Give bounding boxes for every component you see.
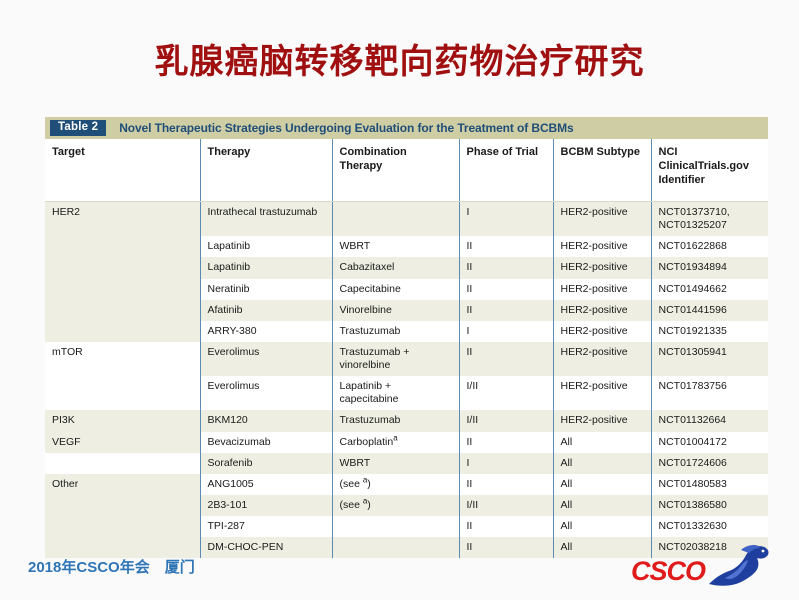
cell-target: Other <box>45 474 200 495</box>
cell-subtype: All <box>553 432 651 453</box>
table-row: TPI-287IIAllNCT01332630 <box>45 516 768 537</box>
cell-phase: II <box>459 537 553 558</box>
footnote-marker: a <box>393 433 397 442</box>
cell-phase: II <box>459 516 553 537</box>
table-figure: Table 2 Novel Therapeutic Strategies Und… <box>45 117 768 558</box>
cell-subtype: HER2-positive <box>553 202 651 237</box>
cell-target <box>45 279 200 300</box>
cell-target <box>45 236 200 257</box>
cell-nct: NCT01332630 <box>651 516 768 537</box>
cell-subtype: HER2-positive <box>553 300 651 321</box>
csco-logo-text: CSCO <box>631 556 705 587</box>
table-row: VEGFBevacizumabCarboplatinaIIAllNCT01004… <box>45 432 768 453</box>
cell-target: PI3K <box>45 410 200 431</box>
cell-therapy: Lapatinib <box>200 257 332 278</box>
cell-combination: (see a) <box>332 495 459 516</box>
column-header-therapy: Therapy <box>200 139 332 202</box>
cell-nct: NCT01386580 <box>651 495 768 516</box>
cell-nct: NCT01305941 <box>651 342 768 376</box>
cell-combination: (see a) <box>332 474 459 495</box>
cell-therapy: DM-CHOC-PEN <box>200 537 332 558</box>
cell-nct: NCT01480583 <box>651 474 768 495</box>
column-header-subtype: BCBM Subtype <box>553 139 651 202</box>
cell-therapy: BKM120 <box>200 410 332 431</box>
cell-subtype: HER2-positive <box>553 321 651 342</box>
cell-phase: II <box>459 279 553 300</box>
figure-caption: Novel Therapeutic Strategies Undergoing … <box>119 121 573 135</box>
column-header-phase: Phase of Trial <box>459 139 553 202</box>
table-row: OtherANG1005(see a)IIAllNCT01480583 <box>45 474 768 495</box>
cell-therapy: ANG1005 <box>200 474 332 495</box>
footnote-marker: a <box>363 496 367 505</box>
figure-header: Table 2 Novel Therapeutic Strategies Und… <box>45 117 768 139</box>
table-row: EverolimusLapatinib + capecitabineI/IIHE… <box>45 376 768 410</box>
cell-therapy: Neratinib <box>200 279 332 300</box>
cell-therapy: 2B3-101 <box>200 495 332 516</box>
cell-subtype: All <box>553 495 651 516</box>
cell-combination: WBRT <box>332 453 459 474</box>
cell-therapy: ARRY-380 <box>200 321 332 342</box>
cell-subtype: All <box>553 474 651 495</box>
cell-phase: II <box>459 236 553 257</box>
trials-table: Target Therapy Combination Therapy Phase… <box>45 139 768 558</box>
cell-combination <box>332 202 459 237</box>
table-row: LapatinibWBRTIIHER2-positiveNCT01622868 <box>45 236 768 257</box>
cell-phase: I/II <box>459 410 553 431</box>
footer-conference-label: 2018年CSCO年会 厦门 <box>28 556 195 577</box>
page-title: 乳腺癌脑转移靶向药物治疗研究 <box>0 44 799 81</box>
cell-phase: II <box>459 432 553 453</box>
cell-subtype: HER2-positive <box>553 342 651 376</box>
cell-nct: NCT01783756 <box>651 376 768 410</box>
cell-target <box>45 257 200 278</box>
cell-combination: Trastuzumab + vinorelbine <box>332 342 459 376</box>
cell-therapy: Bevacizumab <box>200 432 332 453</box>
cell-combination: Trastuzumab <box>332 410 459 431</box>
cell-subtype: HER2-positive <box>553 279 651 300</box>
cell-combination: Trastuzumab <box>332 321 459 342</box>
cell-phase: II <box>459 342 553 376</box>
column-header-target: Target <box>45 139 200 202</box>
cell-phase: I/II <box>459 495 553 516</box>
cell-phase: I/II <box>459 376 553 410</box>
cell-combination: Capecitabine <box>332 279 459 300</box>
cell-combination: WBRT <box>332 236 459 257</box>
cell-nct: NCT01132664 <box>651 410 768 431</box>
cell-phase: II <box>459 300 553 321</box>
cell-phase: II <box>459 257 553 278</box>
cell-subtype: All <box>553 453 651 474</box>
cell-target <box>45 321 200 342</box>
cell-nct: NCT01934894 <box>651 257 768 278</box>
cell-phase: I <box>459 321 553 342</box>
table-header-row: Target Therapy Combination Therapy Phase… <box>45 139 768 202</box>
table-row: 2B3-101(see a)I/IIAllNCT01386580 <box>45 495 768 516</box>
cell-target <box>45 495 200 516</box>
table-number-badge: Table 2 <box>50 120 106 137</box>
table-row: NeratinibCapecitabineIIHER2-positiveNCT0… <box>45 279 768 300</box>
cell-phase: II <box>459 474 553 495</box>
table-row: mTOREverolimusTrastuzumab + vinorelbineI… <box>45 342 768 376</box>
cell-target: mTOR <box>45 342 200 376</box>
cell-subtype: HER2-positive <box>553 376 651 410</box>
cell-therapy: Sorafenib <box>200 453 332 474</box>
cell-nct: NCT01921335 <box>651 321 768 342</box>
cell-nct: NCT01373710, NCT01325207 <box>651 202 768 237</box>
cell-nct: NCT01441596 <box>651 300 768 321</box>
footnote-marker: a <box>363 475 367 484</box>
cell-nct: NCT01622868 <box>651 236 768 257</box>
cell-nct: NCT01724606 <box>651 453 768 474</box>
cell-target <box>45 516 200 537</box>
cell-therapy: Intrathecal trastuzumab <box>200 202 332 237</box>
cell-phase: I <box>459 453 553 474</box>
cell-subtype: HER2-positive <box>553 410 651 431</box>
cell-nct: NCT01004172 <box>651 432 768 453</box>
cell-target: HER2 <box>45 202 200 237</box>
table-row: PI3KBKM120TrastuzumabI/IIHER2-positiveNC… <box>45 410 768 431</box>
table-row: AfatinibVinorelbineIIHER2-positiveNCT014… <box>45 300 768 321</box>
cell-combination <box>332 516 459 537</box>
cell-subtype: HER2-positive <box>553 257 651 278</box>
cell-target <box>45 300 200 321</box>
cell-therapy: Afatinib <box>200 300 332 321</box>
cell-combination <box>332 537 459 558</box>
cell-subtype: All <box>553 516 651 537</box>
cell-therapy: TPI-287 <box>200 516 332 537</box>
cell-therapy: Everolimus <box>200 376 332 410</box>
table-body: HER2Intrathecal trastuzumabIHER2-positiv… <box>45 202 768 559</box>
cell-combination: Cabazitaxel <box>332 257 459 278</box>
cell-target: VEGF <box>45 432 200 453</box>
cell-combination: Carboplatina <box>332 432 459 453</box>
table-row: SorafenibWBRTIAllNCT01724606 <box>45 453 768 474</box>
table-row: ARRY-380TrastuzumabIHER2-positiveNCT0192… <box>45 321 768 342</box>
table-row: HER2Intrathecal trastuzumabIHER2-positiv… <box>45 202 768 237</box>
cell-combination: Lapatinib + capecitabine <box>332 376 459 410</box>
cell-nct: NCT01494662 <box>651 279 768 300</box>
cell-therapy: Everolimus <box>200 342 332 376</box>
eagle-icon <box>697 544 775 592</box>
cell-phase: I <box>459 202 553 237</box>
table-row: LapatinibCabazitaxelIIHER2-positiveNCT01… <box>45 257 768 278</box>
csco-logo: CSCO <box>631 546 781 592</box>
column-header-combination: Combination Therapy <box>332 139 459 202</box>
cell-therapy: Lapatinib <box>200 236 332 257</box>
column-header-nct: NCI ClinicalTrials.gov Identifier <box>651 139 768 202</box>
cell-target <box>45 376 200 410</box>
cell-target <box>45 453 200 474</box>
cell-combination: Vinorelbine <box>332 300 459 321</box>
cell-subtype: HER2-positive <box>553 236 651 257</box>
